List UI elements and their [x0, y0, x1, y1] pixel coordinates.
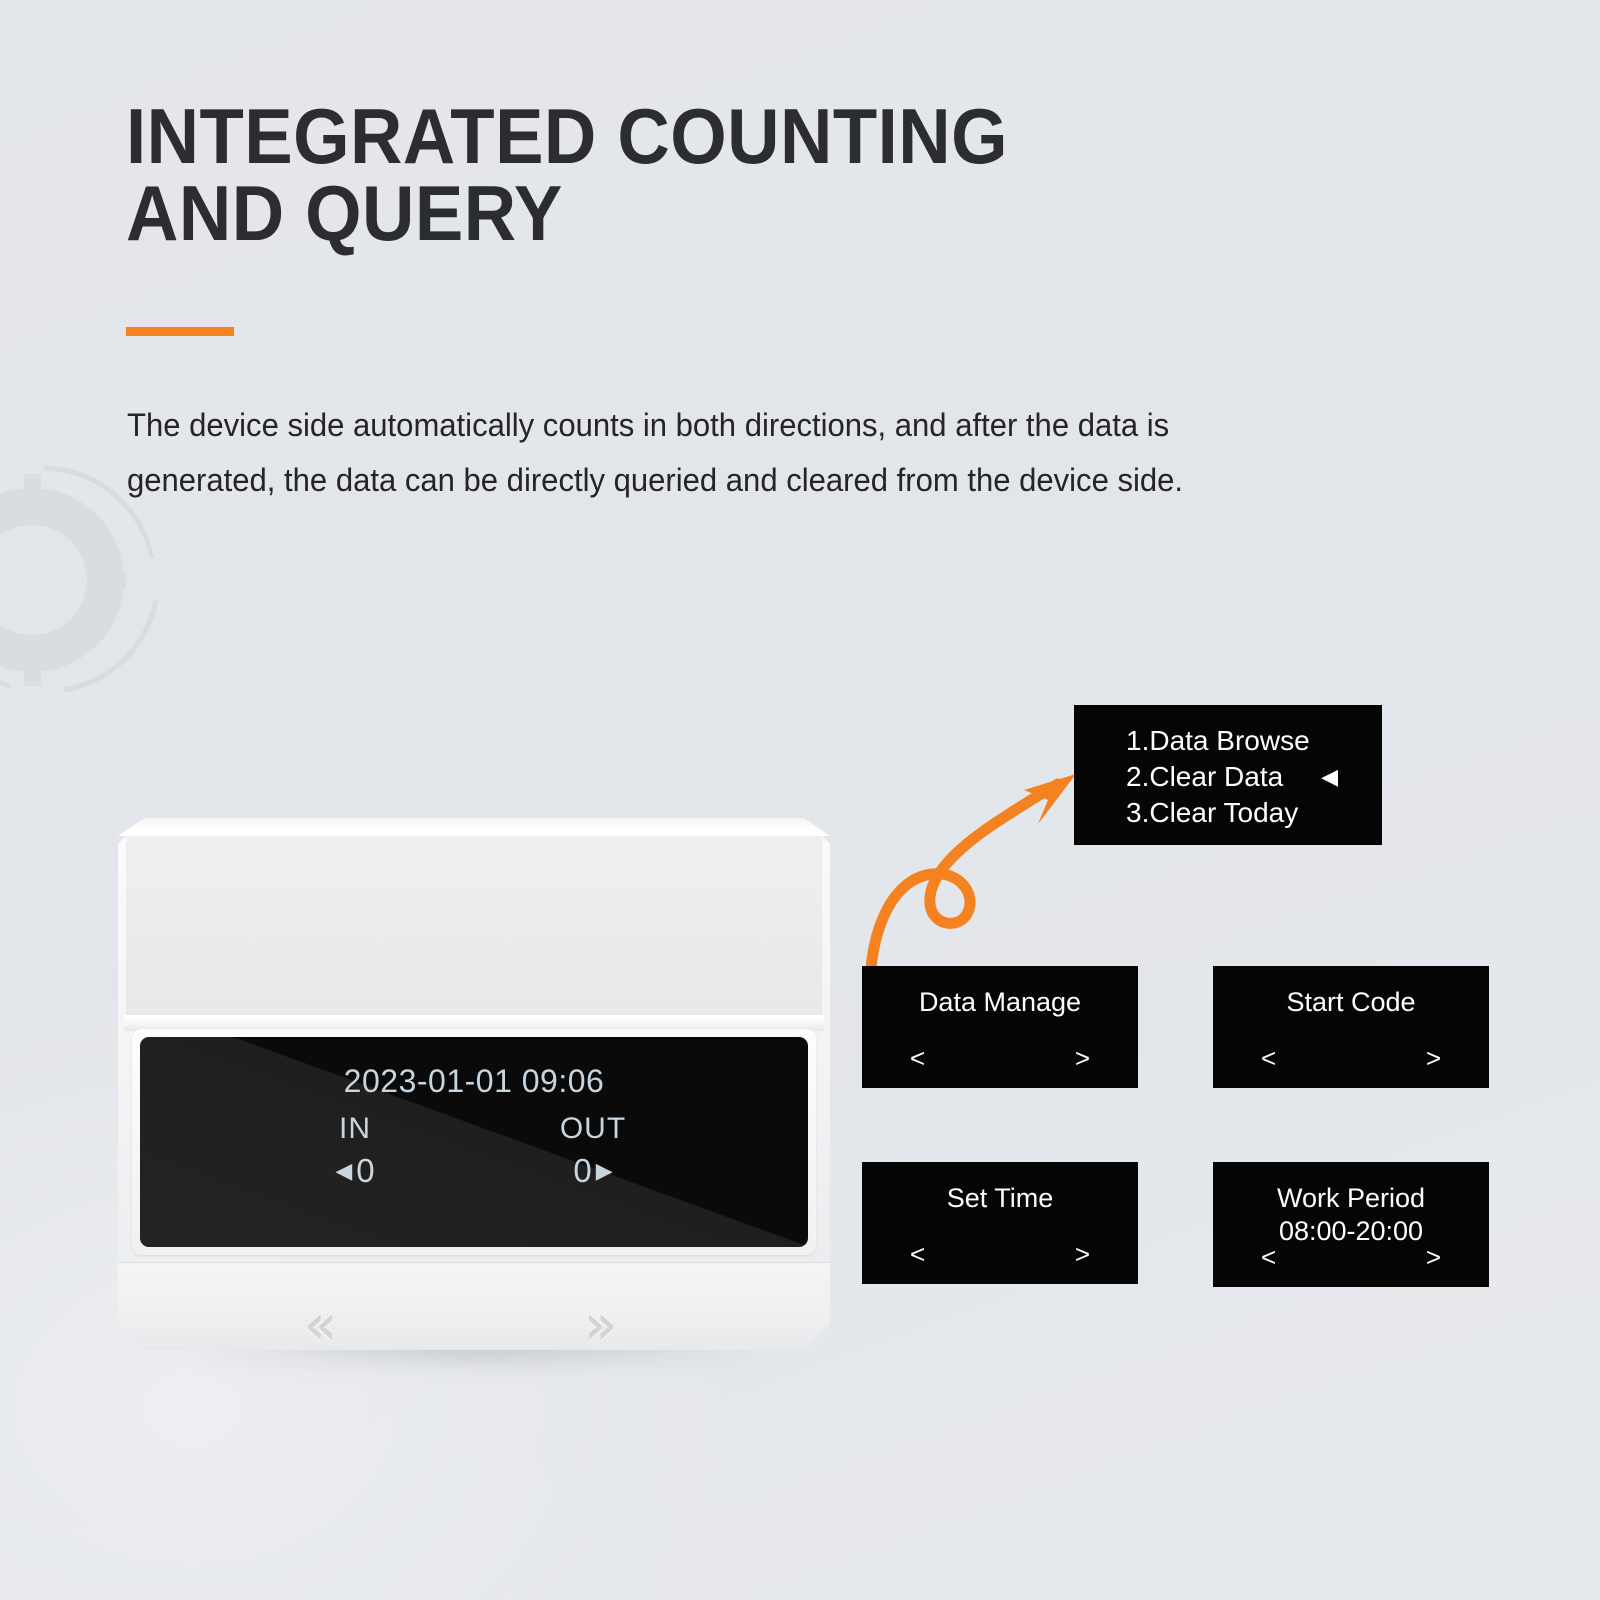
- tile-work-period[interactable]: Work Period 08:00-20:00 < >: [1213, 1162, 1489, 1287]
- screen-in-count-row: ◀ 0: [275, 1152, 435, 1190]
- tile-next-button[interactable]: >: [1426, 1043, 1441, 1074]
- screen-in-count: 0: [356, 1152, 374, 1190]
- menu-selector-caret: ◀: [1321, 759, 1338, 795]
- screen-in-label: IN: [275, 1112, 435, 1146]
- page-description: The device side automatically counts in …: [127, 398, 1272, 508]
- right-triangle-icon: ▶: [596, 1160, 613, 1182]
- tile-set-time[interactable]: Set Time < >: [862, 1162, 1138, 1284]
- tile-next-button[interactable]: >: [1075, 1043, 1090, 1074]
- menu-item-data-browse[interactable]: 1.Data Browse: [1074, 723, 1382, 759]
- menu-item-clear-today[interactable]: 3.Clear Today: [1074, 795, 1382, 831]
- tile-prev-button[interactable]: <: [1261, 1043, 1276, 1074]
- screen-out-column: OUT 0 ▶: [513, 1112, 673, 1190]
- menu-item-label: 2.Clear Data: [1126, 761, 1283, 792]
- tile-prev-button[interactable]: <: [1261, 1242, 1276, 1273]
- tile-title: Set Time: [862, 1162, 1138, 1215]
- menu-item-label: 1.Data Browse: [1126, 725, 1310, 756]
- device-screen: 2023-01-01 09:06 IN ◀ 0 OUT 0 ▶: [140, 1037, 808, 1247]
- device-top-lip: [118, 818, 830, 836]
- tile-title: Work Period: [1213, 1162, 1489, 1215]
- device-next-key[interactable]: »: [584, 1299, 607, 1353]
- device-front-face: [126, 835, 822, 1015]
- left-triangle-icon: ◀: [335, 1160, 352, 1182]
- device-button-bar: « »: [118, 1262, 830, 1350]
- device-prev-key[interactable]: «: [304, 1299, 327, 1353]
- tile-next-button[interactable]: >: [1426, 1242, 1441, 1273]
- tile-title: Data Manage: [862, 966, 1138, 1019]
- counter-device: 2023-01-01 09:06 IN ◀ 0 OUT 0 ▶: [118, 818, 830, 1350]
- tile-next-button[interactable]: >: [1075, 1239, 1090, 1270]
- accent-rule: [126, 327, 234, 336]
- tile-data-manage[interactable]: Data Manage < >: [862, 966, 1138, 1088]
- data-manage-menu-panel[interactable]: 1.Data Browse 2.Clear Data ◀ 3.Clear Tod…: [1074, 705, 1382, 845]
- tile-prev-button[interactable]: <: [910, 1043, 925, 1074]
- menu-item-label: 3.Clear Today: [1126, 797, 1298, 828]
- screen-out-count: 0: [573, 1152, 591, 1190]
- menu-item-clear-data[interactable]: 2.Clear Data ◀: [1074, 759, 1382, 795]
- page-title: INTEGRATED COUNTING AND QUERY: [126, 98, 1242, 252]
- tile-title: Start Code: [1213, 966, 1489, 1019]
- screen-out-label: OUT: [513, 1112, 673, 1146]
- screen-datetime: 2023-01-01 09:06: [344, 1063, 605, 1100]
- tile-start-code[interactable]: Start Code < >: [1213, 966, 1489, 1088]
- page-title-block: INTEGRATED COUNTING AND QUERY: [126, 98, 1326, 252]
- tile-prev-button[interactable]: <: [910, 1239, 925, 1270]
- screen-out-count-row: 0 ▶: [513, 1152, 673, 1190]
- screen-in-column: IN ◀ 0: [275, 1112, 435, 1190]
